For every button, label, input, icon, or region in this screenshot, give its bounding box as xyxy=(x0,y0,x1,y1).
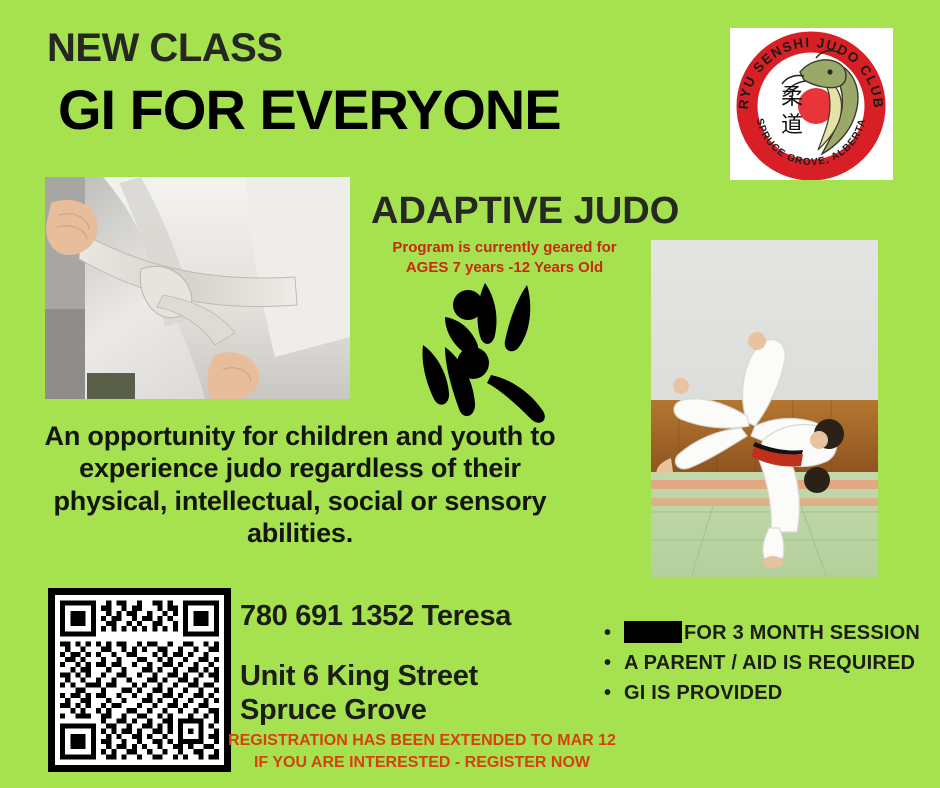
address-line-1: Unit 6 King Street xyxy=(240,660,478,694)
list-item: A PARENT / AID IS REQUIRED xyxy=(602,648,932,678)
program-age-note: Program is currently geared for AGES 7 y… xyxy=(382,238,627,277)
club-logo-graphic: 柔 道 RYU SENSHI JUDO CLUB SPRUCE GROVE, A… xyxy=(730,28,893,180)
judo-gi-belt-photo xyxy=(45,177,350,399)
class-details-list: FOR 3 MONTH SESSION A PARENT / AID IS RE… xyxy=(602,618,932,708)
contact-address: Unit 6 King Street Spruce Grove xyxy=(240,660,478,727)
list-item: GI IS PROVIDED xyxy=(602,678,932,708)
redacted-price-box xyxy=(624,621,682,643)
kanji-do: 道 xyxy=(781,113,803,138)
qr-code-graphic xyxy=(55,595,224,765)
program-note-line-1: Program is currently geared for xyxy=(382,238,627,258)
adaptive-judo-figures-graphic xyxy=(415,283,570,423)
qr-code-modules xyxy=(55,595,224,765)
registration-qr-code[interactable] xyxy=(48,588,231,772)
throw-photo-graphic xyxy=(651,240,878,578)
adaptive-judo-figures-icon xyxy=(415,283,570,423)
program-note-line-2: AGES 7 years -12 Years Old xyxy=(382,258,627,278)
kanji-ju: 柔 xyxy=(781,85,803,110)
list-item-label: A PARENT / AID IS REQUIRED xyxy=(624,652,915,674)
eyebrow-heading: NEW CLASS xyxy=(47,28,283,68)
contact-phone[interactable]: 780 691 1352 Teresa xyxy=(240,600,511,633)
list-item-label: FOR 3 MONTH SESSION xyxy=(684,622,920,644)
section-heading: ADAPTIVE JUDO xyxy=(371,192,679,230)
judo-throw-photo xyxy=(651,240,878,578)
program-description: An opportunity for children and youth to… xyxy=(24,420,576,550)
gi-photo-graphic xyxy=(45,177,350,399)
club-logo: 柔 道 RYU SENSHI JUDO CLUB SPRUCE GROVE, A… xyxy=(730,28,893,180)
list-item-label: GI IS PROVIDED xyxy=(624,682,782,704)
poster-canvas: NEW CLASS GI FOR EVERYONE 柔 道 xyxy=(0,0,940,788)
registration-notice: REGISTRATION HAS BEEN EXTENDED TO MAR 12… xyxy=(212,730,632,773)
registration-line-1: REGISTRATION HAS BEEN EXTENDED TO MAR 12 xyxy=(212,730,632,752)
page-title: GI FOR EVERYONE xyxy=(58,82,561,138)
list-item: FOR 3 MONTH SESSION xyxy=(602,618,932,648)
address-line-2: Spruce Grove xyxy=(240,694,478,728)
registration-line-2: IF YOU ARE INTERESTED - REGISTER NOW xyxy=(212,752,632,774)
